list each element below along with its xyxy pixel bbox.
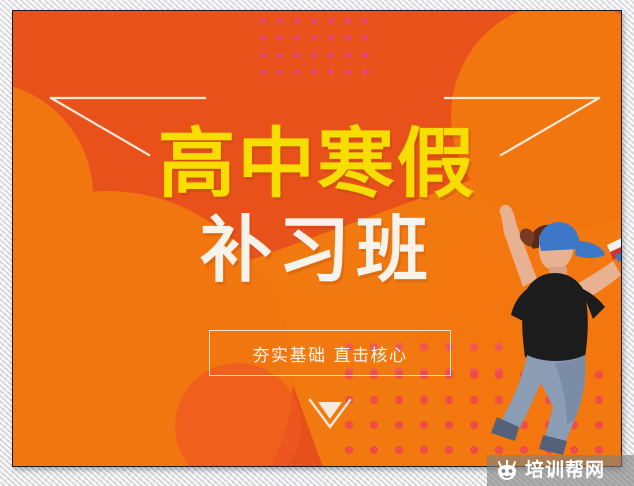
- jumping-student-illustration: [471, 193, 622, 467]
- watermark-text: 培训帮网: [525, 461, 605, 480]
- tagline-text: 夯实基础 直击核心: [253, 341, 408, 366]
- dot-grid-top-decor: [259, 17, 377, 79]
- tagline-box: 夯实基础 直击核心: [209, 330, 451, 376]
- poster-canvas: 高中寒假 补习班 夯实基础 直击核心: [12, 10, 622, 467]
- sun-face-icon: [495, 460, 519, 482]
- chevron-down-icon: [307, 397, 353, 431]
- image-frame: 高中寒假 补习班 夯实基础 直击核心: [0, 0, 634, 486]
- books-icon: [607, 229, 622, 262]
- watermark: 培训帮网: [487, 455, 634, 486]
